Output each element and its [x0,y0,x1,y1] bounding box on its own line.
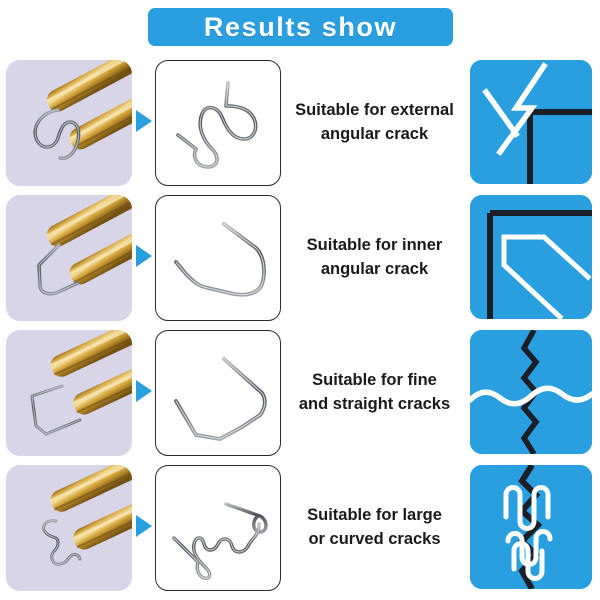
results-show-infographic: Results show [0,0,600,600]
row-large-curved-cracks: Suitable for large or curved cracks [0,460,600,595]
caption-inner-angular-crack: Suitable for inner angular crack [292,190,457,325]
arrow-to-staple [133,242,155,270]
caption-line-2: and straight cracks [299,393,450,416]
external-angular-crack-diagram [470,60,592,184]
welding-tool-with-wave-staple-image [6,60,132,186]
u-staple-image [156,196,279,319]
row-external-angular-crack: Suitable for external angular crack [0,55,600,190]
caption-line-1: Suitable for large [307,504,442,527]
photo-welding-tool-u [6,195,132,321]
welding-tool-with-u-staple-image [6,195,132,321]
caption-line-1: Suitable for external [295,99,454,122]
caption-fine-straight-cracks: Suitable for fine and straight cracks [292,325,457,460]
caption-large-curved-cracks: Suitable for large or curved cracks [292,460,457,595]
staple-zigzag [155,465,281,591]
caption-line-2: or curved cracks [308,528,440,551]
play-arrow-icon [133,377,155,405]
illustration-external-angular-crack [470,60,592,184]
arrow-to-staple [133,377,155,405]
staple-u [155,195,281,321]
square-staple-image [156,331,279,454]
play-arrow-icon [133,512,155,540]
caption-line-2: angular crack [321,258,428,281]
caption-line-1: Suitable for inner [307,234,443,257]
photo-welding-tool-wave [6,60,132,186]
banner-title: Results show [204,14,397,41]
row-fine-straight-cracks: Suitable for fine and straight cracks [0,325,600,460]
results-show-banner: Results show [148,8,453,46]
fine-straight-crack-diagram [470,330,592,454]
staple-square [155,330,281,456]
photo-welding-tool-square [6,330,132,456]
caption-external-angular-crack: Suitable for external angular crack [292,55,457,190]
play-arrow-icon [133,242,155,270]
inner-angular-crack-diagram [470,195,592,319]
photo-welding-tool-zigzag [6,465,132,591]
staple-wave [155,60,281,186]
welding-tool-with-square-staple-image [6,330,132,456]
wave-staple-image [156,61,279,184]
arrow-to-staple [133,107,155,135]
illustration-inner-angular-crack [470,195,592,319]
caption-line-1: Suitable for fine [312,369,437,392]
illustration-large-curved-crack [470,465,592,589]
play-arrow-icon [133,107,155,135]
zigzag-staple-image [156,466,279,589]
caption-line-2: angular crack [321,123,428,146]
illustration-fine-straight-crack [470,330,592,454]
row-inner-angular-crack: Suitable for inner angular crack [0,190,600,325]
large-curved-crack-diagram [470,465,592,589]
arrow-to-staple [133,512,155,540]
welding-tool-with-zigzag-staple-image [6,465,132,591]
